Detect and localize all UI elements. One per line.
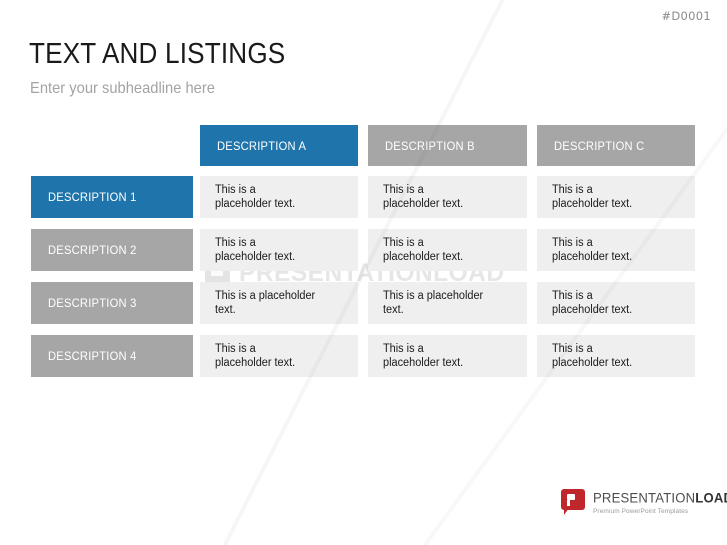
table-row: DESCRIPTION 4 This is a placeholder text… <box>31 335 695 377</box>
table-corner-cell <box>31 125 193 166</box>
table-cell-r1c3-text: This is a placeholder text. <box>552 183 632 211</box>
page-subtitle: Enter your subheadline here <box>30 78 215 100</box>
table-cell-r3c2-text: This is a placeholder text. <box>383 289 483 317</box>
table-cell-r1c3[interactable]: This is a placeholder text. <box>537 176 695 218</box>
row-label-3[interactable]: DESCRIPTION 3 <box>31 282 193 324</box>
table-cell-r4c1-text: This is a placeholder text. <box>215 342 295 370</box>
brand-wordmark: PRESENTATIONLOAD® <box>593 488 727 506</box>
row-label-2-text: DESCRIPTION 2 <box>48 243 137 257</box>
brand-logo: PRESENTATIONLOAD® Premium PowerPoint Tem… <box>561 488 711 520</box>
document-id: #D0001 <box>661 9 711 23</box>
column-header-b[interactable]: DESCRIPTION B <box>368 125 526 166</box>
table-cell-r3c3[interactable]: This is a placeholder text. <box>537 282 695 324</box>
table-cell-r3c3-text: This is a placeholder text. <box>552 289 632 317</box>
column-header-c-label: DESCRIPTION C <box>554 139 644 153</box>
table-row: DESCRIPTION 1 This is a placeholder text… <box>31 176 695 218</box>
column-header-a-label: DESCRIPTION A <box>217 139 306 153</box>
row-label-2[interactable]: DESCRIPTION 2 <box>31 229 193 271</box>
table-cell-r2c1-text: This is a placeholder text. <box>215 236 295 264</box>
row-label-4[interactable]: DESCRIPTION 4 <box>31 335 193 377</box>
page-title: TEXT AND LISTINGS <box>29 36 285 72</box>
table-cell-r4c2-text: This is a placeholder text. <box>383 342 463 370</box>
table-cell-r1c2[interactable]: This is a placeholder text. <box>368 176 526 218</box>
brand-logo-words: PRESENTATIONLOAD® Premium PowerPoint Tem… <box>593 488 727 516</box>
brand-word-bold: LOAD <box>695 491 727 506</box>
column-header-b-label: DESCRIPTION B <box>385 139 475 153</box>
table-cell-r2c1[interactable]: This is a placeholder text. <box>200 229 358 271</box>
row-label-3-text: DESCRIPTION 3 <box>48 296 137 310</box>
row-label-1-text: DESCRIPTION 1 <box>48 190 137 204</box>
column-header-c[interactable]: DESCRIPTION C <box>537 125 695 166</box>
table-header-row: DESCRIPTION A DESCRIPTION B DESCRIPTION … <box>31 125 695 166</box>
table-cell-r4c3-text: This is a placeholder text. <box>552 342 632 370</box>
table-cell-r1c1-text: This is a placeholder text. <box>215 183 295 211</box>
table-cell-r3c1[interactable]: This is a placeholder text. <box>200 282 358 324</box>
table-cell-r4c3[interactable]: This is a placeholder text. <box>537 335 695 377</box>
row-label-4-text: DESCRIPTION 4 <box>48 349 137 363</box>
table-cell-r1c1[interactable]: This is a placeholder text. <box>200 176 358 218</box>
row-label-1[interactable]: DESCRIPTION 1 <box>31 176 193 218</box>
table-cell-r2c3-text: This is a placeholder text. <box>552 236 632 264</box>
brand-tagline: Premium PowerPoint Templates <box>593 507 727 516</box>
table-row: DESCRIPTION 3 This is a placeholder text… <box>31 282 695 324</box>
table-cell-r3c1-text: This is a placeholder text. <box>215 289 315 317</box>
table-cell-r4c2[interactable]: This is a placeholder text. <box>368 335 526 377</box>
column-header-a[interactable]: DESCRIPTION A <box>200 125 358 166</box>
brand-word-light: PRESENTATION <box>593 491 695 506</box>
table-row: DESCRIPTION 2 This is a placeholder text… <box>31 229 695 271</box>
comparison-table: DESCRIPTION A DESCRIPTION B DESCRIPTION … <box>31 125 695 377</box>
table-cell-r2c2[interactable]: This is a placeholder text. <box>368 229 526 271</box>
table-cell-r2c3[interactable]: This is a placeholder text. <box>537 229 695 271</box>
table-cell-r3c2[interactable]: This is a placeholder text. <box>368 282 526 324</box>
table-cell-r2c2-text: This is a placeholder text. <box>383 236 463 264</box>
presentationload-bubble-icon <box>561 489 585 513</box>
table-cell-r1c2-text: This is a placeholder text. <box>383 183 463 211</box>
slide-canvas: #D0001 TEXT AND LISTINGS Enter your subh… <box>0 0 727 545</box>
table-cell-r4c1[interactable]: This is a placeholder text. <box>200 335 358 377</box>
